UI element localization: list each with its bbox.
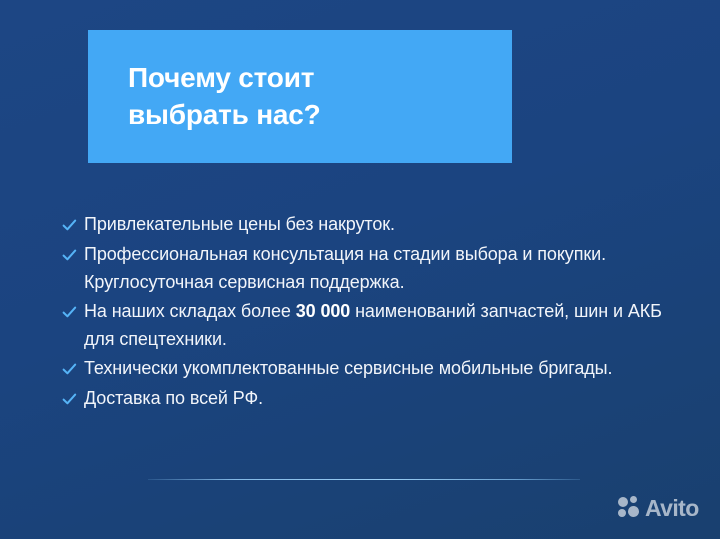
check-icon <box>62 355 84 383</box>
benefits-list: Привлекательные цены без накруток.Профес… <box>62 210 662 414</box>
page-title-line-1: Почему стоит <box>128 60 512 97</box>
list-item: На наших складах более 30 000 наименован… <box>62 297 662 353</box>
text-run: Профессиональная консультация на стадии … <box>84 244 606 292</box>
list-item: Привлекательные цены без накруток. <box>62 210 662 239</box>
check-icon <box>62 385 84 413</box>
check-icon <box>62 241 84 269</box>
list-item: Технически укомплектованные сервисные мо… <box>62 354 662 383</box>
list-item-label: На наших складах более 30 000 наименован… <box>84 297 662 353</box>
list-item-label: Технически укомплектованные сервисные мо… <box>84 354 662 382</box>
slide-canvas: Почему стоит выбрать нас? Привлекательны… <box>0 0 720 539</box>
avito-wordmark: Avito <box>645 497 699 520</box>
avito-dots-icon <box>618 496 642 520</box>
page-title-line-2: выбрать нас? <box>128 97 512 134</box>
text-run: Привлекательные цены без накруток. <box>84 214 395 234</box>
list-item: Доставка по всей РФ. <box>62 384 662 413</box>
emphasis-value: 30 000 <box>296 301 350 321</box>
divider <box>148 479 580 480</box>
check-icon <box>62 298 84 326</box>
list-item-label: Профессиональная консультация на стадии … <box>84 240 662 296</box>
list-item-label: Доставка по всей РФ. <box>84 384 662 412</box>
title-box: Почему стоит выбрать нас? <box>88 30 512 163</box>
avito-watermark: Avito <box>618 496 699 520</box>
text-run: На наших складах более <box>84 301 296 321</box>
check-icon <box>62 211 84 239</box>
text-run: Технически укомплектованные сервисные мо… <box>84 358 612 378</box>
list-item: Профессиональная консультация на стадии … <box>62 240 662 296</box>
text-run: Доставка по всей РФ. <box>84 388 263 408</box>
list-item-label: Привлекательные цены без накруток. <box>84 210 662 238</box>
